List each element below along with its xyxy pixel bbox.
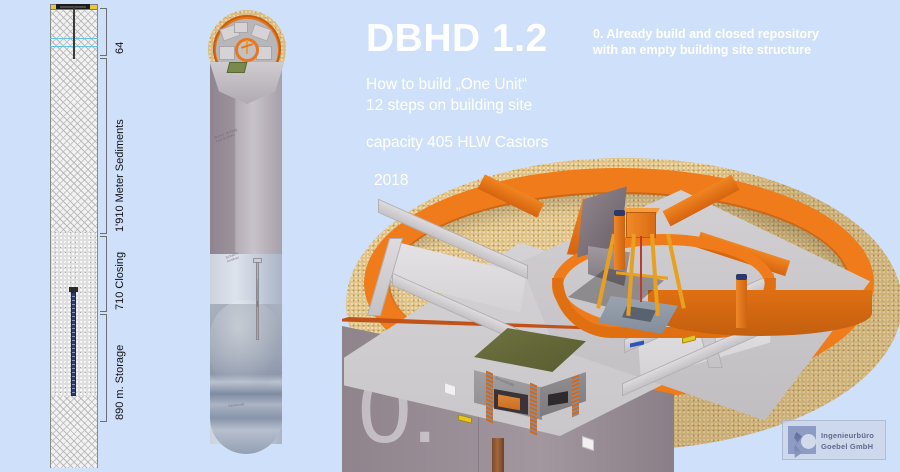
tower-head-plan: [208, 10, 286, 102]
geo-bracket-closing: [100, 236, 107, 312]
shaft-tower-diagram: [196, 4, 304, 470]
geo-cask-stack: [71, 292, 76, 396]
geo-label-storage: 890 m. Storage: [114, 345, 126, 420]
headframe-crossbeam: [616, 271, 668, 279]
subtitle-line-1: How to build „One Unit“: [366, 74, 686, 95]
building-ladder: [572, 374, 579, 417]
geo-layer-basement: [50, 396, 98, 468]
geo-label-closing: 710 Closing: [114, 252, 126, 310]
tower-shaft-rod: [256, 262, 259, 340]
building-ladder: [530, 382, 537, 435]
logo-company-name: Ingenieurbüro: [821, 431, 874, 440]
building-ladder: [486, 370, 493, 423]
company-logo: Ingenieurbüro Goebel GmbH: [782, 420, 886, 460]
logo-company-suffix: Goebel GmbH: [821, 442, 873, 451]
orange-silo-right: [736, 278, 747, 328]
support-leg: [492, 438, 504, 472]
step-caption-line-2: with an empty building site structure: [593, 42, 893, 58]
geo-borehole: [73, 7, 75, 59]
tower-head-cut-face: [208, 62, 286, 104]
silo-cap-left: [614, 210, 625, 216]
orange-silo-left: [614, 214, 625, 270]
geo-bracket-storage: [100, 314, 107, 422]
tower-salt-dome-sheen: [210, 300, 282, 392]
geological-column: 64 1'910 Meter Sediments 710 Closing 890…: [50, 4, 98, 468]
geo-label-sediments: 1'910 Meter Sediments: [114, 119, 126, 232]
tower-head-building: [227, 62, 248, 73]
silo-cap-right: [736, 274, 747, 280]
tower-head-crane-icon: [241, 40, 253, 56]
step-caption-line-1: 0. Already build and closed repository: [593, 26, 893, 42]
logo-mark-icon: [788, 426, 816, 454]
slide-canvas: 64 1'910 Meter Sediments 710 Closing 890…: [0, 0, 900, 472]
logo-wave-shape: [794, 432, 802, 458]
step-caption: 0. Already build and closed repository w…: [593, 26, 893, 58]
tower-head-chamber: [219, 46, 235, 60]
subtitle-line-2: 12 steps on building site: [366, 95, 686, 116]
subtitle-group: How to build „One Unit“ 12 steps on buil…: [366, 74, 686, 116]
building-roof: [474, 328, 586, 372]
logo-circle-shape: [801, 434, 816, 449]
shaft-hall-building: Schachthalle: [472, 328, 588, 430]
geo-bracket-64: [100, 8, 107, 56]
headframe-hoist-rope: [640, 236, 642, 302]
tower-head-chamber: [234, 22, 248, 33]
geo-bracket-sediments: [100, 58, 107, 234]
geo-label-64: 64: [114, 42, 126, 54]
